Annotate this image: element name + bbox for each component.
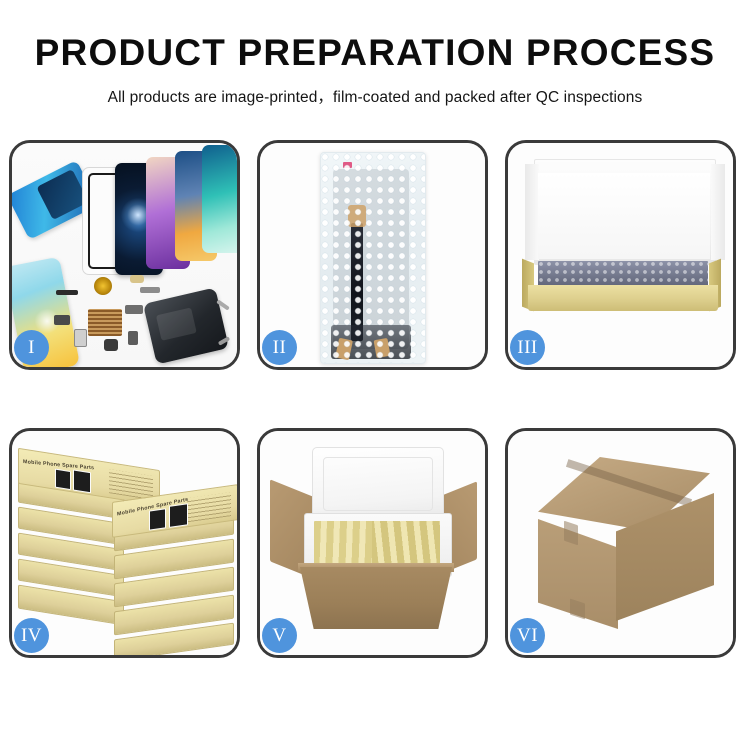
step-panel-5: V bbox=[257, 428, 488, 658]
phone-back-housing bbox=[143, 287, 229, 364]
sealed-carton-photo bbox=[508, 431, 733, 655]
spare-part-chip bbox=[56, 290, 78, 295]
foam-lined-box-photo bbox=[508, 143, 733, 367]
white-foam-sheet bbox=[538, 173, 710, 259]
connector-tab bbox=[373, 338, 390, 358]
step-badge-3: III bbox=[510, 330, 545, 365]
step-panel-3: III bbox=[505, 140, 736, 370]
carton-tape-mark bbox=[564, 521, 578, 546]
bubble-wrap-bag bbox=[320, 152, 426, 364]
step-panel-1: I bbox=[9, 140, 240, 370]
step-badge-5: V bbox=[262, 618, 297, 653]
teal-phone bbox=[202, 145, 237, 253]
spare-part-chip bbox=[128, 331, 138, 345]
spare-part-chip bbox=[125, 305, 143, 314]
carton-packing-photo bbox=[260, 431, 485, 655]
header: PRODUCT PREPARATION PROCESS All products… bbox=[0, 0, 750, 107]
step-badge-2: II bbox=[262, 330, 297, 365]
step-panel-4: Mobile Phone Spare Parts Mobile Phone Sp… bbox=[9, 428, 240, 658]
page-subtitle: All products are image-printed，film-coat… bbox=[0, 85, 750, 107]
product-preparation-infographic: PRODUCT PREPARATION PROCESS All products… bbox=[0, 0, 750, 750]
spare-part-chip bbox=[74, 329, 87, 347]
step-panel-2: II bbox=[257, 140, 488, 370]
screen-artwork bbox=[73, 469, 91, 493]
screen-artwork bbox=[55, 469, 71, 491]
boxed-stack-photo: Mobile Phone Spare Parts Mobile Phone Sp… bbox=[12, 431, 237, 655]
bag-inner-part bbox=[333, 169, 409, 349]
screen-artwork bbox=[169, 503, 188, 528]
spare-part-chip bbox=[140, 287, 160, 293]
spec-lines bbox=[187, 492, 231, 522]
product-lineup-photo bbox=[12, 143, 237, 367]
step-panel-6: VI bbox=[505, 428, 736, 658]
yellow-boxes-inside bbox=[314, 521, 440, 569]
box-stack: Mobile Phone Spare Parts Mobile Phone Sp… bbox=[16, 453, 236, 649]
spec-lines bbox=[109, 469, 153, 500]
step-badge-6: VI bbox=[510, 618, 545, 653]
steps-grid: I II bbox=[9, 140, 742, 658]
spare-part-chip bbox=[54, 315, 70, 325]
bubble-wrapped-part-photo bbox=[260, 143, 485, 367]
spare-part-chip bbox=[130, 275, 144, 283]
box-front-panel bbox=[528, 285, 718, 311]
page-title: PRODUCT PREPARATION PROCESS bbox=[0, 34, 750, 71]
step-badge-4: IV bbox=[14, 618, 49, 653]
gold-coil-part bbox=[94, 277, 112, 295]
foam-box-lid bbox=[312, 447, 444, 521]
qc-sticker bbox=[343, 162, 352, 168]
spare-part-chip bbox=[104, 339, 118, 351]
flex-cable bbox=[351, 223, 363, 341]
step-badge-1: I bbox=[14, 330, 49, 365]
copper-mesh-part bbox=[88, 309, 122, 336]
screen-artwork bbox=[149, 508, 166, 530]
carton-front-panel bbox=[300, 567, 452, 629]
